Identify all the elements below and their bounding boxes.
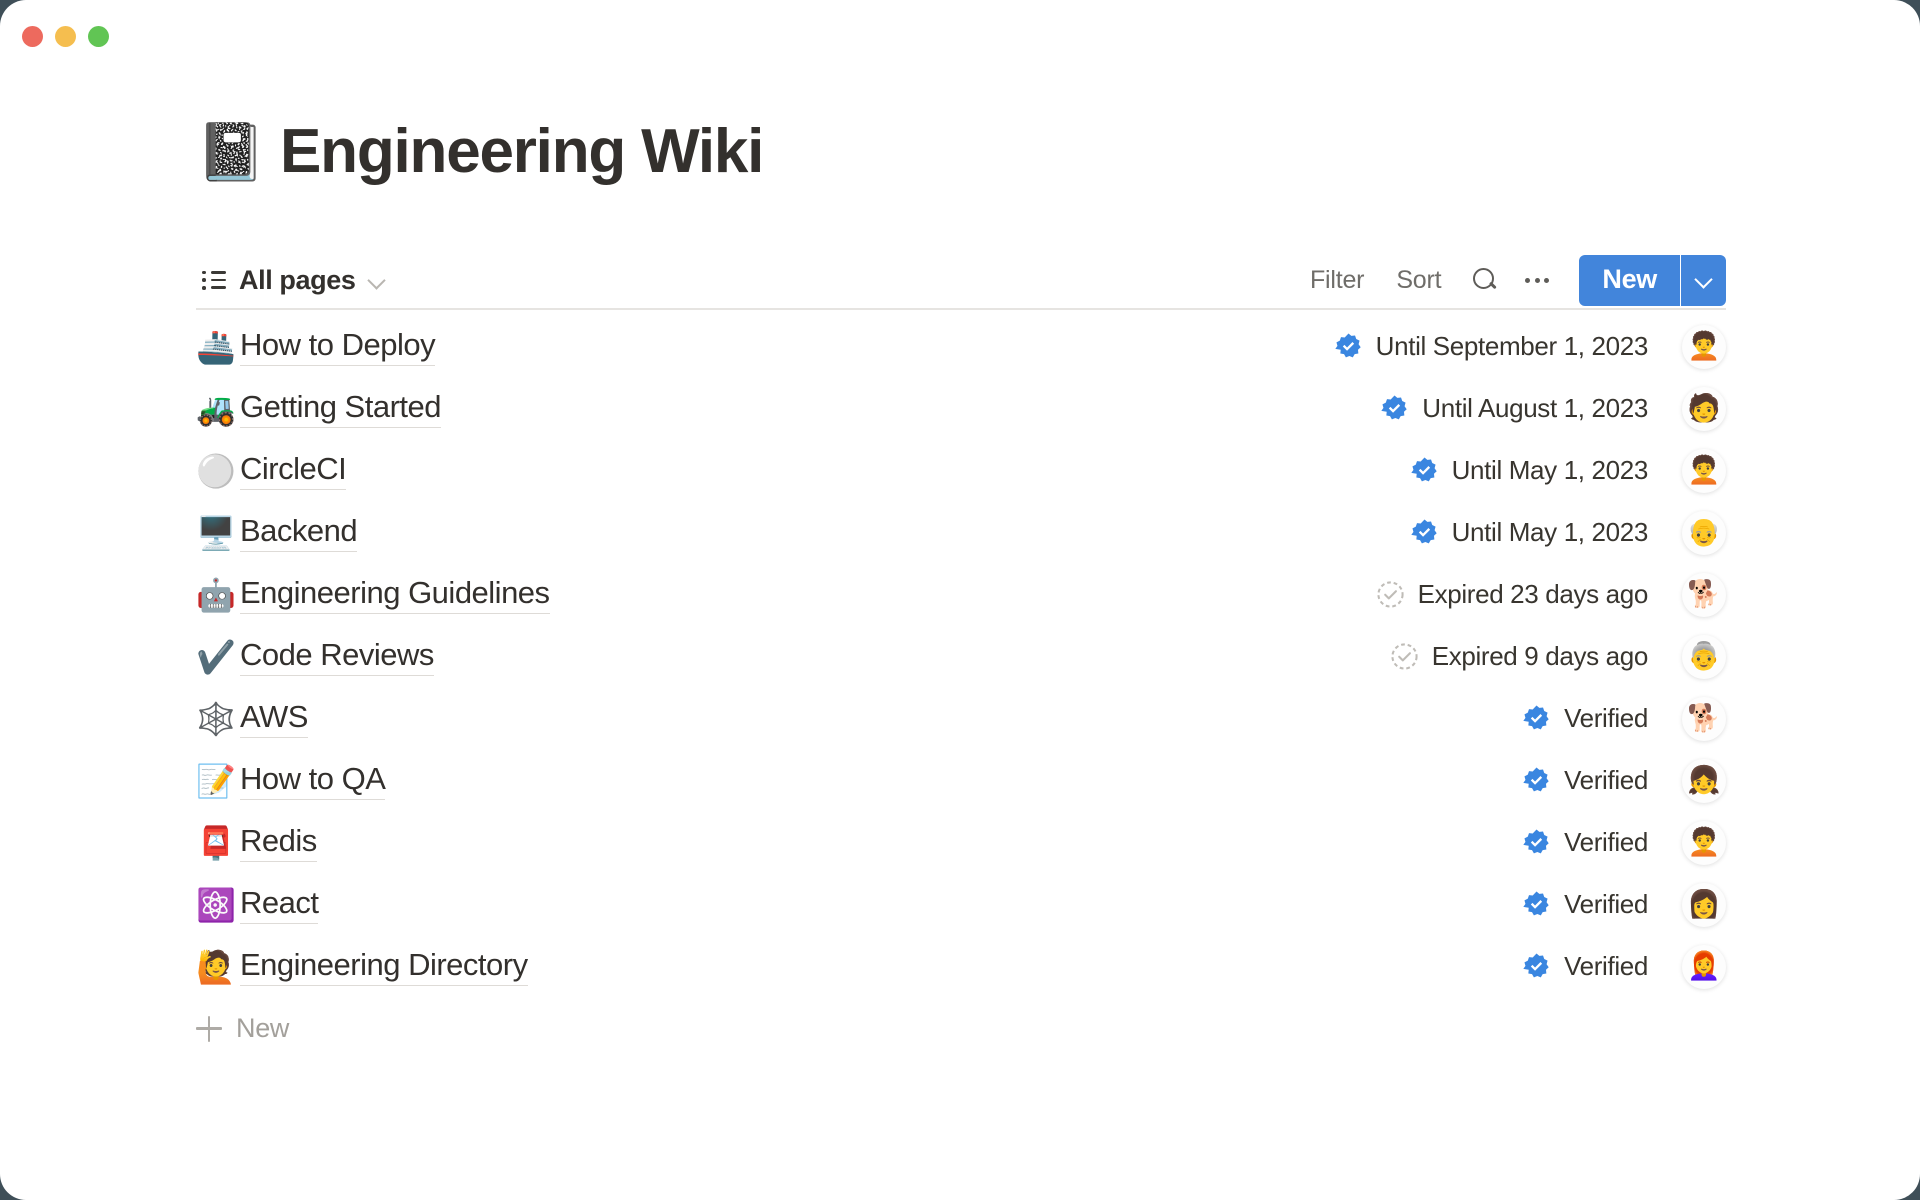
avatar-face-5[interactable]: 🐕 (1682, 573, 1726, 617)
chevron-down-icon (1696, 273, 1711, 288)
page-link[interactable]: Code Reviews (240, 637, 434, 676)
table-row[interactable]: 🕸️AWSVerified🐕 (196, 688, 1726, 750)
page-link[interactable]: AWS (240, 699, 308, 738)
table-row[interactable]: 📝How to QAVerified👧 (196, 750, 1726, 812)
avatar-face-2[interactable]: 🧑 (1682, 387, 1726, 431)
search-button[interactable] (1457, 260, 1511, 300)
verified-badge-icon (1410, 518, 1439, 547)
status-text: Expired 9 days ago (1432, 641, 1648, 672)
verified-badge-icon (1380, 394, 1409, 423)
notebook-emoji: 📓 (196, 124, 258, 180)
robot-emoji: 🤖 (196, 579, 240, 611)
tractor-emoji: 🚜 (196, 393, 240, 425)
status-text: Verified (1564, 951, 1648, 982)
page-link[interactable]: CircleCI (240, 451, 346, 490)
status-text: Verified (1564, 889, 1648, 920)
status-text: Verified (1564, 703, 1648, 734)
status-text: Until May 1, 2023 (1452, 455, 1648, 486)
avatar-face-4[interactable]: 👴 (1682, 511, 1726, 555)
verified-badge-icon (1522, 890, 1551, 919)
page-header: 📓 Engineering Wiki (196, 104, 1726, 200)
verified-badge-icon (1334, 332, 1363, 361)
avatar-face-8[interactable]: 👧 (1682, 759, 1726, 803)
verification-status[interactable]: Verified (1522, 951, 1682, 982)
status-text: Until August 1, 2023 (1422, 393, 1648, 424)
avatar-face-7[interactable]: 🐕 (1682, 697, 1726, 741)
white-circle-emoji: ⚪ (196, 455, 240, 487)
table-row[interactable]: ⚛️ReactVerified👩 (196, 874, 1726, 936)
page-link[interactable]: Getting Started (240, 389, 441, 428)
table-row[interactable]: 🖥️BackendUntil May 1, 2023👴 (196, 502, 1726, 564)
filter-button[interactable]: Filter (1294, 259, 1380, 302)
verification-status[interactable]: Until May 1, 2023 (1410, 517, 1682, 548)
status-text: Expired 23 days ago (1418, 579, 1648, 610)
verification-status[interactable]: Verified (1522, 827, 1682, 858)
table-row[interactable]: 🙋Engineering DirectoryVerified👩‍🦰 (196, 936, 1726, 998)
view-selector[interactable]: All pages (196, 261, 391, 300)
verified-badge-icon (1522, 766, 1551, 795)
table-row[interactable]: ✔️Code ReviewsExpired 9 days ago👵 (196, 626, 1726, 688)
verification-status[interactable]: Verified (1522, 889, 1682, 920)
verification-status[interactable]: Verified (1522, 703, 1682, 734)
search-icon (1471, 267, 1497, 293)
verified-badge-icon (1522, 704, 1551, 733)
table-row[interactable]: 🚜Getting StartedUntil August 1, 2023🧑 (196, 378, 1726, 440)
verification-status[interactable]: Expired 9 days ago (1390, 641, 1682, 672)
avatar-face-10[interactable]: 👩 (1682, 883, 1726, 927)
plus-icon (196, 1016, 222, 1042)
page-title: Engineering Wiki (280, 121, 763, 183)
ship-emoji: 🚢 (196, 331, 240, 363)
more-options-button[interactable] (1511, 260, 1563, 300)
table-row[interactable]: ⚪CircleCIUntil May 1, 2023🧑‍🦱 (196, 440, 1726, 502)
check-mark-emoji: ✔️ (196, 641, 240, 673)
add-new-page-label: New (236, 1013, 289, 1044)
page-list: 🚢How to DeployUntil September 1, 2023🧑‍🦱… (196, 310, 1726, 998)
verification-status[interactable]: Until September 1, 2023 (1334, 331, 1682, 362)
postbox-emoji: 📮 (196, 827, 240, 859)
status-text: Until May 1, 2023 (1452, 517, 1648, 548)
status-text: Until September 1, 2023 (1376, 331, 1648, 362)
page-link[interactable]: Backend (240, 513, 357, 552)
verified-badge-icon (1522, 952, 1551, 981)
avatar-face-9[interactable]: 🧑‍🦱 (1682, 821, 1726, 865)
close-button[interactable] (22, 26, 43, 47)
spider-web-emoji: 🕸️ (196, 703, 240, 735)
status-text: Verified (1564, 765, 1648, 796)
verification-status[interactable]: Until August 1, 2023 (1380, 393, 1682, 424)
page-link[interactable]: Engineering Directory (240, 947, 528, 986)
more-options-icon (1525, 267, 1549, 293)
avatar-face-3[interactable]: 🧑‍🦱 (1682, 449, 1726, 493)
verified-badge-icon (1522, 828, 1551, 857)
maximize-button[interactable] (88, 26, 109, 47)
minimize-button[interactable] (55, 26, 76, 47)
memo-emoji: 📝 (196, 765, 240, 797)
person-raising-hand-emoji: 🙋 (196, 951, 240, 983)
table-row[interactable]: 📮RedisVerified🧑‍🦱 (196, 812, 1726, 874)
app-window: 📓 Engineering Wiki All pages Filter Sort (0, 0, 1920, 1200)
status-text: Verified (1564, 827, 1648, 858)
page-link[interactable]: Redis (240, 823, 317, 862)
avatar-face-1[interactable]: 🧑‍🦱 (1682, 325, 1726, 369)
expired-badge-icon (1390, 642, 1419, 671)
table-row[interactable]: 🚢How to DeployUntil September 1, 2023🧑‍🦱 (196, 316, 1726, 378)
table-row[interactable]: 🤖Engineering GuidelinesExpired 23 days a… (196, 564, 1726, 626)
verified-badge-icon (1410, 456, 1439, 485)
view-selector-label: All pages (239, 265, 355, 296)
window-titlebar (0, 0, 1920, 72)
add-new-page-row[interactable]: New (196, 1000, 1726, 1058)
page-link[interactable]: React (240, 885, 318, 924)
new-button-group[interactable]: New (1579, 255, 1726, 306)
avatar-face-6[interactable]: 👵 (1682, 635, 1726, 679)
new-button-dropdown[interactable] (1681, 255, 1726, 306)
chevron-down-icon (368, 272, 385, 289)
database-toolbar: All pages Filter Sort New (196, 252, 1726, 308)
verification-status[interactable]: Verified (1522, 765, 1682, 796)
page-link[interactable]: How to Deploy (240, 327, 435, 366)
verification-status[interactable]: Expired 23 days ago (1376, 579, 1682, 610)
new-button[interactable]: New (1579, 255, 1680, 306)
desktop-computer-emoji: 🖥️ (196, 517, 240, 549)
atom-emoji: ⚛️ (196, 889, 240, 921)
avatar-face-11[interactable]: 👩‍🦰 (1682, 945, 1726, 989)
list-view-icon (202, 271, 226, 290)
expired-badge-icon (1376, 580, 1405, 609)
page-link[interactable]: Engineering Guidelines (240, 575, 550, 614)
toolbar-actions: Filter Sort New (1294, 255, 1726, 306)
verification-status[interactable]: Until May 1, 2023 (1410, 455, 1682, 486)
page-content: 📓 Engineering Wiki All pages Filter Sort (196, 104, 1726, 1058)
page-link[interactable]: How to QA (240, 761, 385, 800)
sort-button[interactable]: Sort (1380, 259, 1457, 302)
